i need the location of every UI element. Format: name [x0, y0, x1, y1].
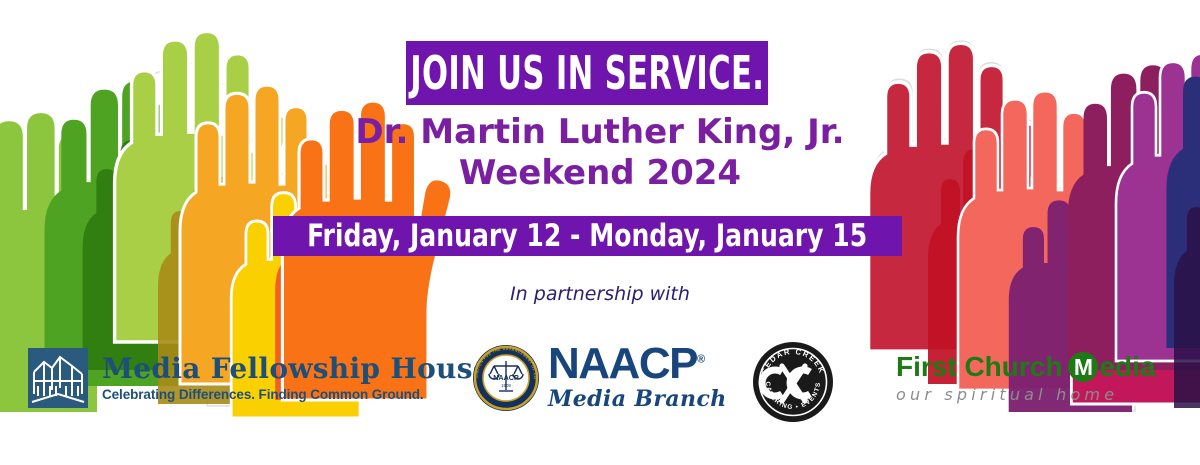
svg-text:1909: 1909	[501, 383, 511, 388]
house-porch-icon	[28, 348, 88, 408]
logo-cedar-creek[interactable]: CEDAR CREEK CATERING • EVENTS	[752, 341, 834, 423]
event-title-line1: Dr. Martin Luther King, Jr.	[300, 112, 900, 153]
mfh-name: Media Fellowship House	[102, 354, 491, 383]
svg-text:NAACP: NAACP	[493, 373, 519, 382]
event-title-line2: Weekend 2024	[300, 153, 900, 194]
fcm-wordmark: First Church M edia	[896, 352, 1156, 382]
partnership-label: In partnership with	[300, 283, 900, 305]
naacp-branch-label: Media Branch	[548, 386, 727, 412]
naacp-seal-icon: NAACP 1909 NATIONAL ASSOCIATION FOR THE …	[472, 344, 540, 412]
logo-naacp-media-branch[interactable]: NAACP 1909 NATIONAL ASSOCIATION FOR THE …	[472, 343, 727, 412]
logo-first-church-media[interactable]: First Church M edia our spiritual home	[896, 352, 1156, 404]
mfh-tagline: Celebrating Differences. Finding Common …	[102, 387, 491, 402]
fcm-name-part2: edia	[1099, 352, 1155, 381]
naacp-wordmark: NAACP®	[548, 343, 727, 385]
cedar-creek-badge-icon: CEDAR CREEK CATERING • EVENTS	[752, 341, 834, 423]
event-title: Dr. Martin Luther King, Jr. Weekend 2024	[300, 112, 900, 195]
headline-text: JOIN US IN SERVICE.	[410, 50, 764, 96]
event-dates-text: Friday, January 12 - Monday, January 15	[307, 221, 867, 252]
event-dates-banner: Friday, January 12 - Monday, January 15	[273, 216, 902, 256]
headline-banner: JOIN US IN SERVICE.	[406, 41, 768, 105]
mlk-weekend-banner: JOIN US IN SERVICE. Dr. Martin Luther Ki…	[0, 0, 1200, 465]
fcm-tagline: our spiritual home	[896, 385, 1118, 404]
logo-media-fellowship-house[interactable]: Media Fellowship House Celebrating Diffe…	[28, 348, 491, 408]
m-circle-icon: M	[1068, 352, 1098, 382]
partner-logo-strip: Media Fellowship House Celebrating Diffe…	[0, 336, 1200, 436]
fcm-name-part1: First Church	[896, 352, 1062, 381]
